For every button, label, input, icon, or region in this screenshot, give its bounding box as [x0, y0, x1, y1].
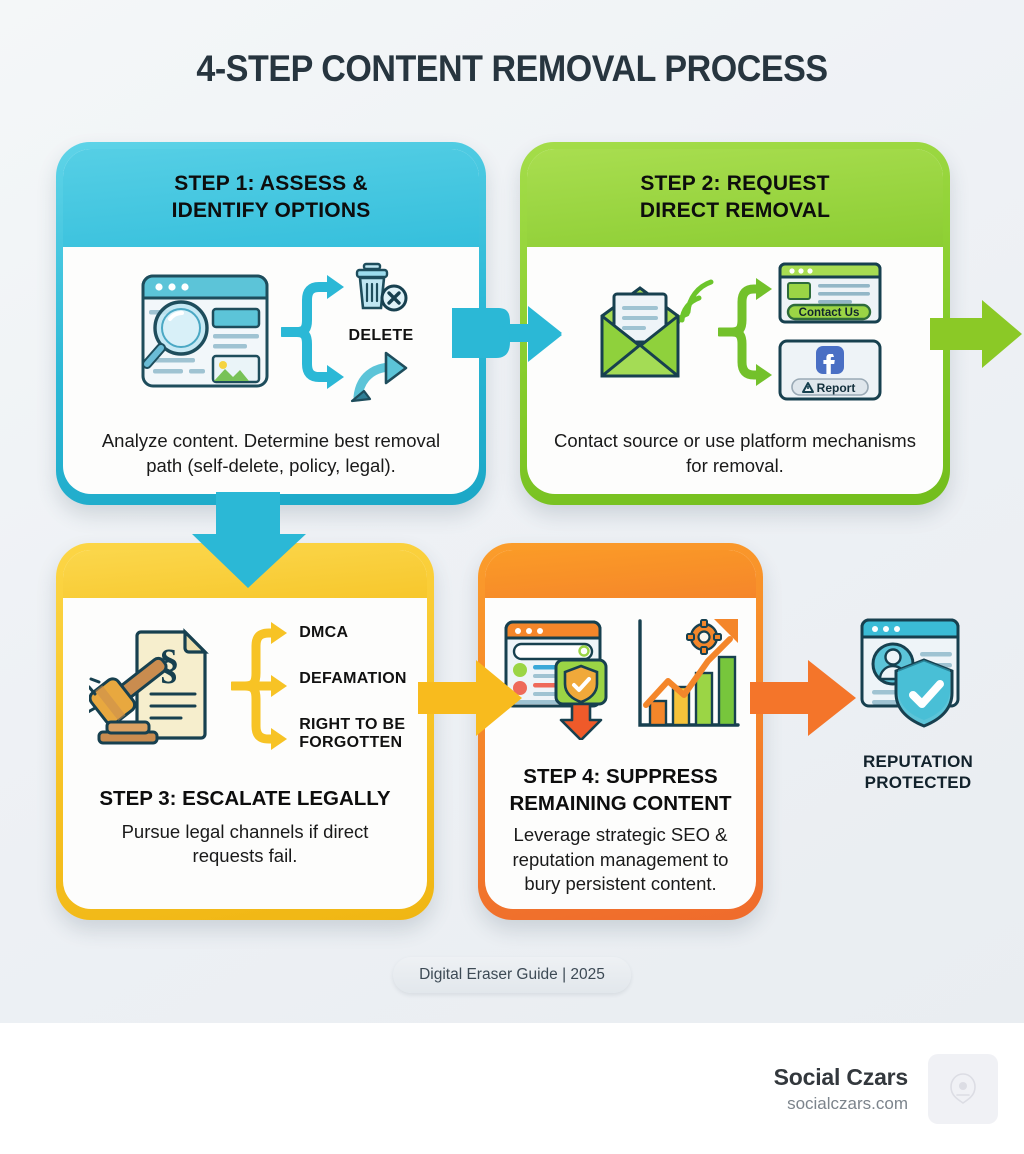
connector-step2-outward	[930, 288, 1024, 380]
step-1-caption: Analyze content. Determine best removal …	[63, 429, 479, 478]
card-step-3: §	[56, 543, 434, 920]
connector-step1-to-step2	[452, 280, 564, 386]
outcome-block: REPUTATION PROTECTED	[828, 612, 1008, 794]
branch-bracket-icon	[281, 270, 347, 399]
step-3-caption: Pursue legal channels if direct requests…	[63, 820, 427, 869]
card-step-1: STEP 1: ASSESS & IDENTIFY OPTIONS	[56, 142, 486, 505]
browser-magnifier-icon	[129, 266, 281, 403]
card-step-2: STEP 2: REQUEST DIRECT REMOVAL	[520, 142, 950, 505]
outcome-label: REPUTATION PROTECTED	[863, 751, 973, 794]
branch-bracket-icon	[718, 270, 776, 399]
step-2-branch-label-report: Report	[817, 381, 856, 395]
step-2-heading-line-2: DIRECT REMOVAL	[640, 198, 830, 225]
step-3-branch-label-right-to-be-forgotten: RIGHT TO BE FORGOTTEN	[299, 716, 407, 752]
gavel-legal-document-icon: §	[89, 616, 229, 761]
facebook-report-icon: Report	[778, 339, 882, 406]
social-czars-logo-icon	[928, 1054, 998, 1124]
step-4-caption: Leverage strategic SEO & reputation mana…	[485, 823, 756, 897]
step-4-subtitle-line-1: STEP 4: SUPPRESS	[509, 764, 731, 791]
step-4-subtitle: STEP 4: SUPPRESS REMAINING CONTENT	[491, 764, 749, 817]
step-2-branch-label-contact-us: Contact Us	[799, 307, 860, 319]
growth-chart-gear-icon	[632, 613, 742, 744]
outcome-label-line-2: PROTECTED	[863, 772, 973, 793]
infographic-canvas: 4-STEP CONTENT REMOVAL PROCESS STEP 1: A…	[0, 0, 1024, 1023]
step-1-heading-line-2: IDENTIFY OPTIONS	[172, 198, 371, 225]
contact-us-browser-icon: Contact Us	[778, 262, 882, 329]
step-1-illustration: DELETE	[63, 247, 479, 415]
step-2-caption: Contact source or use platform mechanism…	[527, 429, 943, 478]
step-2-illustration: Contact Us Report	[527, 247, 943, 415]
page-title: 4-STEP CONTENT REMOVAL PROCESS	[41, 48, 983, 90]
brand-footer: Social Czars socialczars.com	[0, 1023, 1024, 1154]
step-4-header-band	[485, 550, 756, 598]
connector-step1-to-step3	[186, 492, 310, 592]
step-2-heading: STEP 2: REQUEST DIRECT REMOVAL	[527, 149, 943, 247]
step-1-heading-line-1: STEP 1: ASSESS &	[172, 171, 371, 198]
step-3-branch-label-dmca: DMCA	[299, 624, 407, 642]
step-3-branch-label-line-2: FORGOTTEN	[299, 734, 407, 752]
step-2-heading-line-1: STEP 2: REQUEST	[640, 171, 830, 198]
step-3-branch-label-line-1: RIGHT TO BE	[299, 716, 407, 734]
step-3-branch-label-defamation: DEFAMATION	[299, 670, 407, 688]
brand-name: Social Czars	[774, 1064, 908, 1091]
step-3-illustration: §	[63, 598, 427, 778]
step-4-subtitle-line-2: REMAINING CONTENT	[509, 791, 731, 818]
step-1-branch-label-delete: DELETE	[349, 327, 414, 345]
open-envelope-icon	[588, 270, 716, 399]
trash-delete-icon	[351, 260, 411, 321]
connector-step3-to-step4	[418, 648, 528, 748]
outcome-label-line-1: REPUTATION	[863, 751, 973, 772]
profile-shield-check-icon	[856, 612, 980, 743]
step-1-heading: STEP 1: ASSESS & IDENTIFY OPTIONS	[63, 149, 479, 247]
branch-bracket-icon	[231, 616, 293, 761]
redirect-arrow-icon	[350, 351, 412, 408]
footer-badge: Digital Eraser Guide | 2025	[393, 957, 631, 993]
step-3-subtitle: STEP 3: ESCALATE LEGALLY	[81, 786, 408, 813]
brand-url: socialczars.com	[774, 1094, 908, 1114]
